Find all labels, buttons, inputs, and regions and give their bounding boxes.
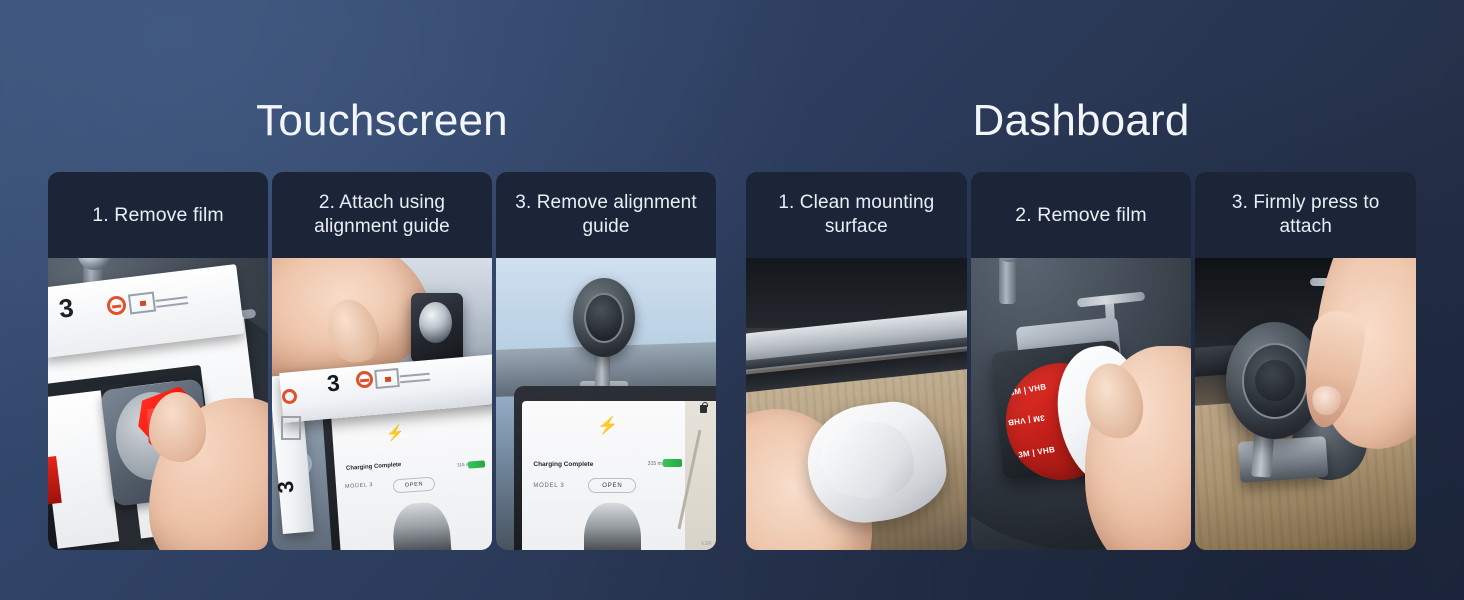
step-photo-remove-film-tape: 3M | VHB 3M | VHB 3M | VHB 3M | VHB 3M |…: [971, 258, 1192, 550]
step-photo-press-to-attach: [1195, 258, 1416, 550]
step-caption: 2. Attach using alignment guide: [272, 172, 492, 258]
charging-bolt-icon: ⚡: [386, 424, 406, 443]
group-title-touchscreen: Touchscreen: [48, 99, 716, 143]
guide-number-label-vertical: 3: [272, 480, 299, 494]
battery-indicator: [663, 459, 682, 467]
map-panel: [685, 401, 716, 550]
thumb: [149, 392, 206, 462]
mount-box-icon-vertical: [281, 416, 301, 440]
mount-box-icon: [128, 292, 156, 315]
step-photo-remove-film: 3: [48, 258, 268, 550]
range-text: 315 mi: [648, 461, 663, 467]
brand-watermark: ESR: [701, 541, 711, 547]
model-label: MODEL 3: [533, 483, 564, 489]
magnetic-ring: [584, 293, 624, 343]
lock-icon: [700, 405, 707, 413]
step-card-dashboard-3: 3. Firmly press to attach: [1195, 172, 1416, 550]
group-title-dashboard: Dashboard: [746, 99, 1416, 143]
step-caption: 1. Remove film: [48, 172, 268, 258]
step-card-dashboard-1: 1. Clean mounting surface: [746, 172, 967, 550]
step-photo-clean-surface: [746, 258, 967, 550]
step-caption: 2. Remove film: [971, 172, 1192, 258]
step-photo-remove-guide: ⚡ Charging Complete 315 mi MODEL 3 OPEN …: [496, 258, 716, 550]
step-photo-attach-using-guide: ⚡ Charging Complete 315 mi MODEL 3 OPEN …: [272, 258, 492, 550]
mount-box-icon: [375, 368, 401, 389]
magnetic-ring: [419, 302, 452, 343]
tape-label: 3M | VHB: [1017, 445, 1055, 460]
tape-label: 3M | VHB: [1007, 413, 1045, 427]
step-card-touchscreen-2: 2. Attach using alignment guide ⚡ Chargi…: [272, 172, 492, 550]
step-group-dashboard: 1. Clean mounting surface 2. Remove film: [746, 172, 1416, 550]
step-card-touchscreen-3: 3. Remove alignment guide ⚡ Charging Com…: [496, 172, 716, 550]
step-caption: 3. Firmly press to attach: [1195, 172, 1416, 258]
battery-indicator: [468, 460, 485, 468]
instruction-graphic: Touchscreen 1. Remove film 3: [0, 0, 1464, 600]
magnetic-core: [1255, 360, 1295, 401]
step-group-touchscreen: 1. Remove film 3: [48, 172, 716, 550]
charging-status-text: Charging Complete: [533, 461, 593, 468]
charging-bolt-icon: ⚡: [597, 416, 618, 436]
step-card-touchscreen-1: 1. Remove film 3: [48, 172, 268, 550]
guide-number-label: 3: [326, 370, 341, 398]
step-card-dashboard-2: 2. Remove film 3M | VHB 3M | VHB 3M | VH…: [971, 172, 1192, 550]
step-caption: 1. Clean mounting surface: [746, 172, 967, 258]
steering-column-stalk: [999, 258, 1016, 304]
open-button: OPEN: [588, 478, 636, 493]
step-caption: 3. Remove alignment guide: [496, 172, 716, 258]
